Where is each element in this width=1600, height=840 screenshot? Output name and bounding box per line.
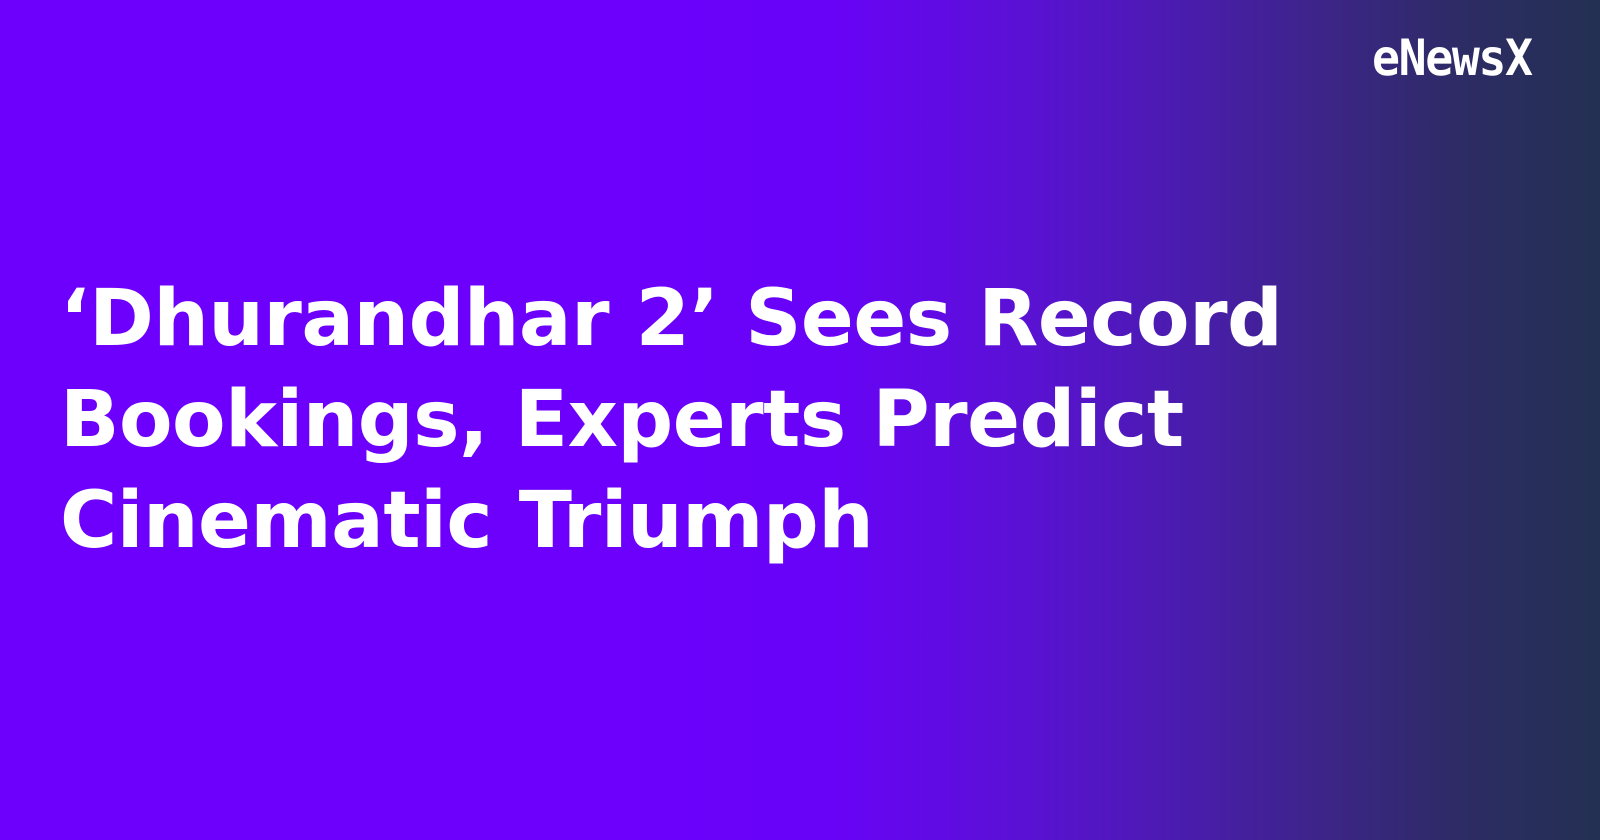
headline-line-1: ‘Dhurandhar 2’ Sees Record	[60, 269, 1282, 370]
news-share-card: eNewsX ‘Dhurandhar 2’ Sees Record Bookin…	[0, 0, 1600, 840]
headline-container: ‘Dhurandhar 2’ Sees Record Bookings, Exp…	[60, 0, 1460, 840]
headline-title: ‘Dhurandhar 2’ Sees Record Bookings, Exp…	[60, 269, 1282, 572]
headline-line-2: Bookings, Experts Predict	[60, 370, 1282, 471]
headline-line-3: Cinematic Triumph	[60, 471, 1282, 572]
